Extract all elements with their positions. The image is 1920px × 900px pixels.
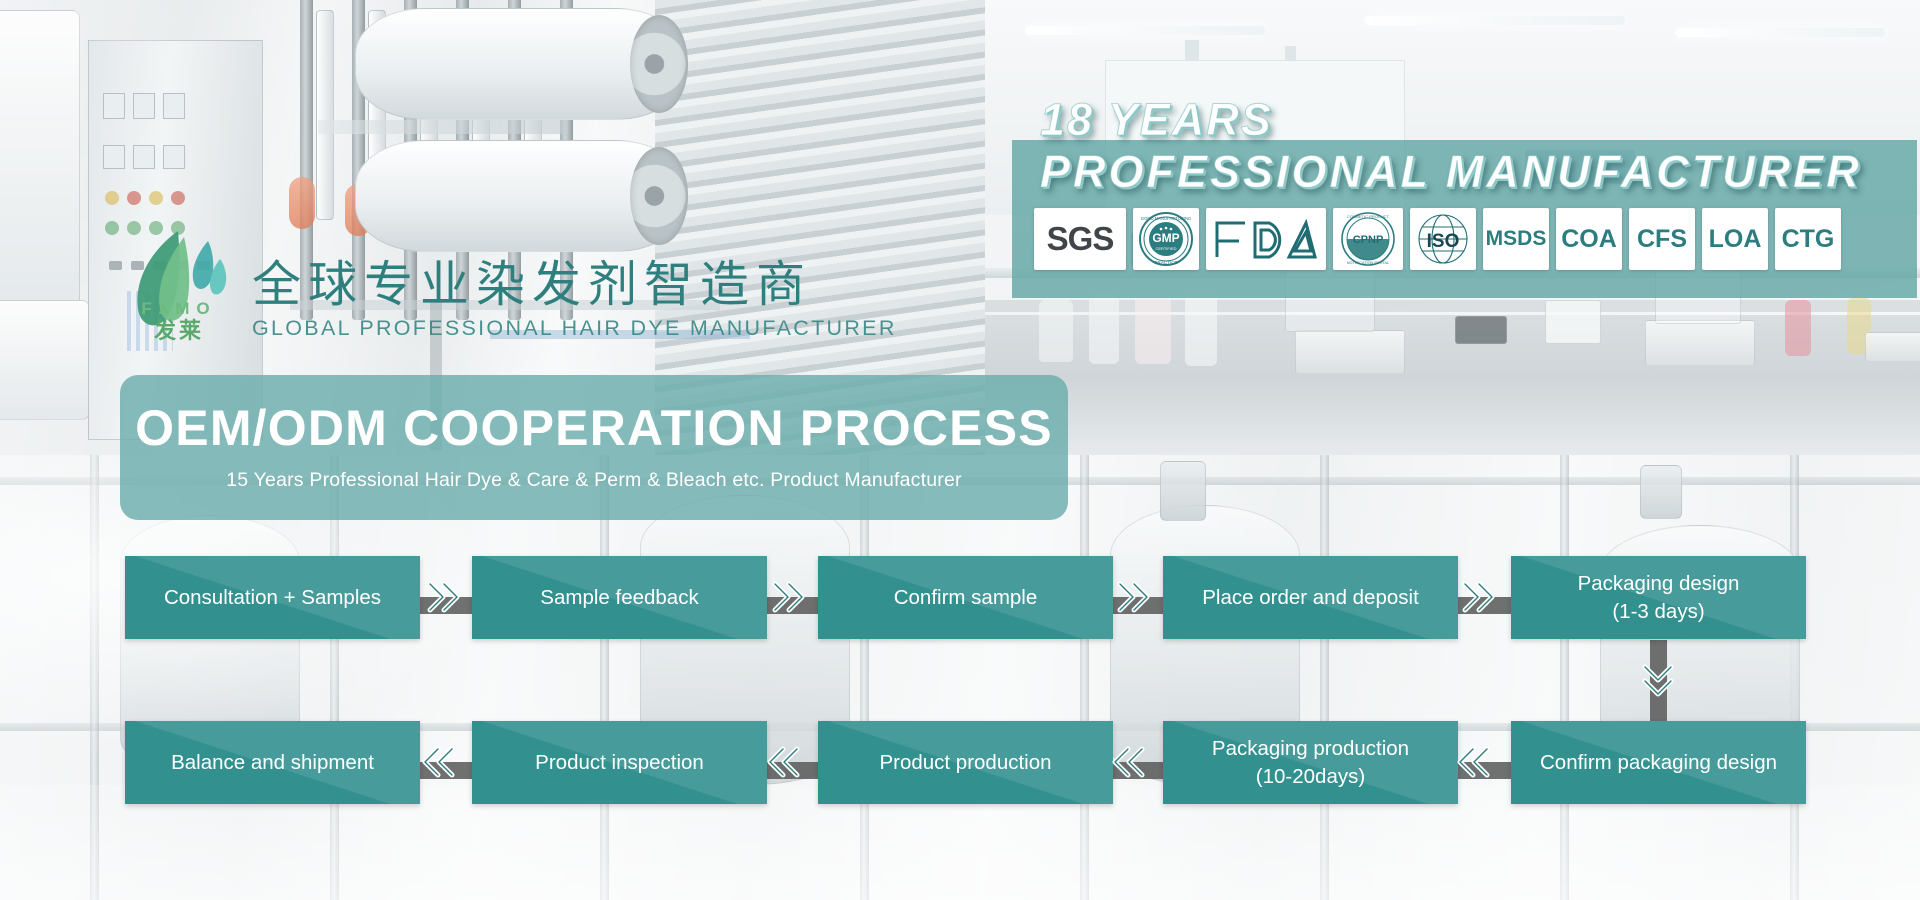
flow-step-9[interactable]: Product inspection	[472, 721, 767, 804]
brand-lockup: FʌMO 发莱 全球专业染发剂智造商 GLOBAL PROFESSIONAL H…	[120, 225, 897, 345]
svg-text:ISO: ISO	[1427, 231, 1460, 252]
flow-step-label: Packaging production (10-20days)	[1212, 735, 1409, 789]
sgs-label: SGS	[1047, 220, 1114, 258]
iso-globe-icon: ISO	[1414, 211, 1472, 267]
certification-badge-msds: MSDS	[1483, 208, 1549, 270]
bg-vessel	[0, 300, 90, 420]
hero-title-panel: OEM/ODM COOPERATION PROCESS 15 Years Pro…	[120, 375, 1068, 520]
coa-label: COA	[1561, 225, 1617, 254]
process-flow: Consultation + Samples Sample feedback C…	[0, 540, 1920, 870]
svg-text:GMP: GMP	[1152, 231, 1179, 245]
flow-step-3[interactable]: Confirm sample	[818, 556, 1113, 639]
flow-step-label: Confirm packaging design	[1540, 749, 1777, 776]
flow-step-label: Product inspection	[535, 749, 704, 776]
slogan-english: GLOBAL PROFESSIONAL HAIR DYE MANUFACTURE…	[252, 316, 897, 341]
certification-badge-cpnp: CPNP COSMETIC PRODUCT NOTIFICATION PORTA…	[1333, 208, 1403, 270]
flow-step-5[interactable]: Packaging design (1-3 days)	[1511, 556, 1806, 639]
certification-badge-loa: LOA	[1702, 208, 1768, 270]
flow-step-7[interactable]: Packaging production (10-20days)	[1163, 721, 1458, 804]
double-chevron-left-icon	[1108, 739, 1154, 785]
loa-label: LOA	[1709, 225, 1762, 254]
gmp-seal-icon: GMP CERTIFIED GOOD MANUFACTURING PRACTIC…	[1137, 210, 1195, 268]
flow-step-label: Place order and deposit	[1202, 584, 1419, 611]
svg-text:CERTIFIED: CERTIFIED	[1155, 246, 1176, 251]
certification-badge-cfs: CFS	[1629, 208, 1695, 270]
fda-logo-icon	[1211, 215, 1321, 263]
bg-vessel	[0, 10, 80, 310]
certification-badge-gmp: GMP CERTIFIED GOOD MANUFACTURING PRACTIC…	[1133, 208, 1199, 270]
slogan-block: 全球专业染发剂智造商 GLOBAL PROFESSIONAL HAIR DYE …	[252, 259, 897, 345]
double-chevron-right-icon	[418, 574, 464, 620]
cpnp-seal-icon: CPNP COSMETIC PRODUCT NOTIFICATION PORTA…	[1338, 210, 1398, 268]
flow-step-8[interactable]: Product production	[818, 721, 1113, 804]
svg-text:COSMETIC PRODUCT: COSMETIC PRODUCT	[1347, 214, 1390, 219]
page-title: OEM/ODM COOPERATION PROCESS	[135, 403, 1053, 453]
msds-label: MSDS	[1486, 227, 1547, 251]
page-subtitle: 15 Years Professional Hair Dye & Care & …	[226, 469, 961, 492]
certification-badge-iso: ISO	[1410, 208, 1476, 270]
flow-step-label: Balance and shipment	[171, 749, 374, 776]
ctg-label: CTG	[1782, 225, 1835, 254]
flow-step-label: Product production	[879, 749, 1051, 776]
svg-text:NOTIFICATION PORTAL: NOTIFICATION PORTAL	[1347, 261, 1389, 265]
flow-step-6[interactable]: Confirm packaging design	[1511, 721, 1806, 804]
double-chevron-left-icon	[418, 739, 464, 785]
years-banner: 18 YEARS PROFESSIONAL MANUFACTURER SGS G…	[1012, 140, 1917, 298]
double-chevron-left-icon	[1453, 739, 1499, 785]
years-banner-line2: PROFESSIONAL MANUFACTURER	[1040, 146, 1862, 198]
certification-badge-coa: COA	[1556, 208, 1622, 270]
double-chevron-left-icon	[763, 739, 809, 785]
flow-step-label: Packaging design (1-3 days)	[1578, 570, 1740, 624]
flow-step-1[interactable]: Consultation + Samples	[125, 556, 420, 639]
flow-step-label: Confirm sample	[894, 584, 1038, 611]
flow-step-4[interactable]: Place order and deposit	[1163, 556, 1458, 639]
slogan-chinese: 全球专业染发剂智造商	[252, 259, 897, 312]
svg-text:GOOD MANUFACTURING: GOOD MANUFACTURING	[1141, 216, 1191, 221]
certification-badge-row: SGS GMP CERTIFIED GOOD MANUFACTURING PRA…	[1034, 208, 1841, 270]
certification-badge-fda	[1206, 208, 1326, 270]
certification-badge-sgs: SGS	[1034, 208, 1126, 270]
svg-text:PRACTICE: PRACTICE	[1154, 260, 1177, 265]
cfs-label: CFS	[1637, 225, 1687, 254]
double-chevron-down-icon	[1635, 655, 1681, 701]
logo-wordmark-cn: 发莱	[120, 313, 238, 345]
double-chevron-right-icon	[1453, 574, 1499, 620]
double-chevron-right-icon	[1108, 574, 1154, 620]
svg-text:CPNP: CPNP	[1353, 234, 1384, 246]
famo-logo: FʌMO 发莱	[120, 225, 238, 345]
years-banner-line1: 18 YEARS	[1040, 94, 1273, 146]
certification-badge-ctg: CTG	[1775, 208, 1841, 270]
flow-step-10[interactable]: Balance and shipment	[125, 721, 420, 804]
poster-canvas: FʌMO 发莱 全球专业染发剂智造商 GLOBAL PROFESSIONAL H…	[0, 0, 1920, 900]
double-chevron-right-icon	[763, 574, 809, 620]
flow-step-2[interactable]: Sample feedback	[472, 556, 767, 639]
flow-step-label: Sample feedback	[540, 584, 698, 611]
flow-step-label: Consultation + Samples	[164, 584, 381, 611]
